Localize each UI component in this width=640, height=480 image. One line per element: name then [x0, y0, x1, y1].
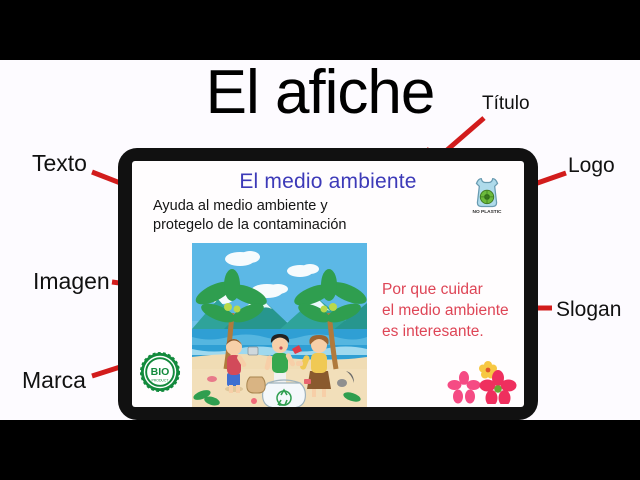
beach-cleanup-illustration [192, 243, 367, 407]
annotation-label-texto: Texto [32, 150, 87, 177]
poster-slogan: Por que cuidar el medio ambiente es inte… [382, 279, 524, 342]
poster: El medio ambiente Ayuda al medio ambient… [132, 161, 524, 407]
flower-pink-left [448, 371, 481, 404]
letterbox-bar-top [0, 0, 640, 60]
annotation-label-imagen: Imagen [33, 268, 110, 295]
letterbox-bar-bottom [0, 420, 640, 480]
bio-badge-subtext: PRODUCT [152, 379, 170, 383]
poster-body-line-2: protegelo de la contaminación [153, 216, 408, 235]
slogan-line-2: el medio ambiente [382, 300, 524, 321]
slogan-line-1: Por que cuidar [382, 279, 524, 300]
annotation-label-titulo: Título [482, 93, 530, 115]
flowers-decoration [444, 360, 520, 404]
page-title: El afiche [0, 62, 640, 124]
annotation-label-slogan: Slogan [556, 298, 621, 322]
bio-badge-text: BIO [151, 366, 170, 378]
no-plastic-logo-icon: NO PLASTIC [463, 171, 511, 219]
slide-content-area: El afiche Título Texto Logo Imagen Sloga… [0, 60, 640, 420]
poster-body-text: Ayuda al medio ambiente y protegelo de l… [153, 197, 408, 235]
no-plastic-caption: NO PLASTIC [473, 209, 503, 215]
tablet-device-frame: El medio ambiente Ayuda al medio ambient… [118, 148, 538, 420]
slide-canvas: El afiche Título Texto Logo Imagen Sloga… [0, 0, 640, 480]
annotation-label-marca: Marca [22, 367, 86, 394]
annotation-label-logo: Logo [568, 154, 615, 178]
bio-badge-icon: BIO PRODUCT [139, 351, 181, 393]
poster-body-line-1: Ayuda al medio ambiente y [153, 197, 408, 216]
slogan-line-3: es interesante. [382, 321, 524, 342]
